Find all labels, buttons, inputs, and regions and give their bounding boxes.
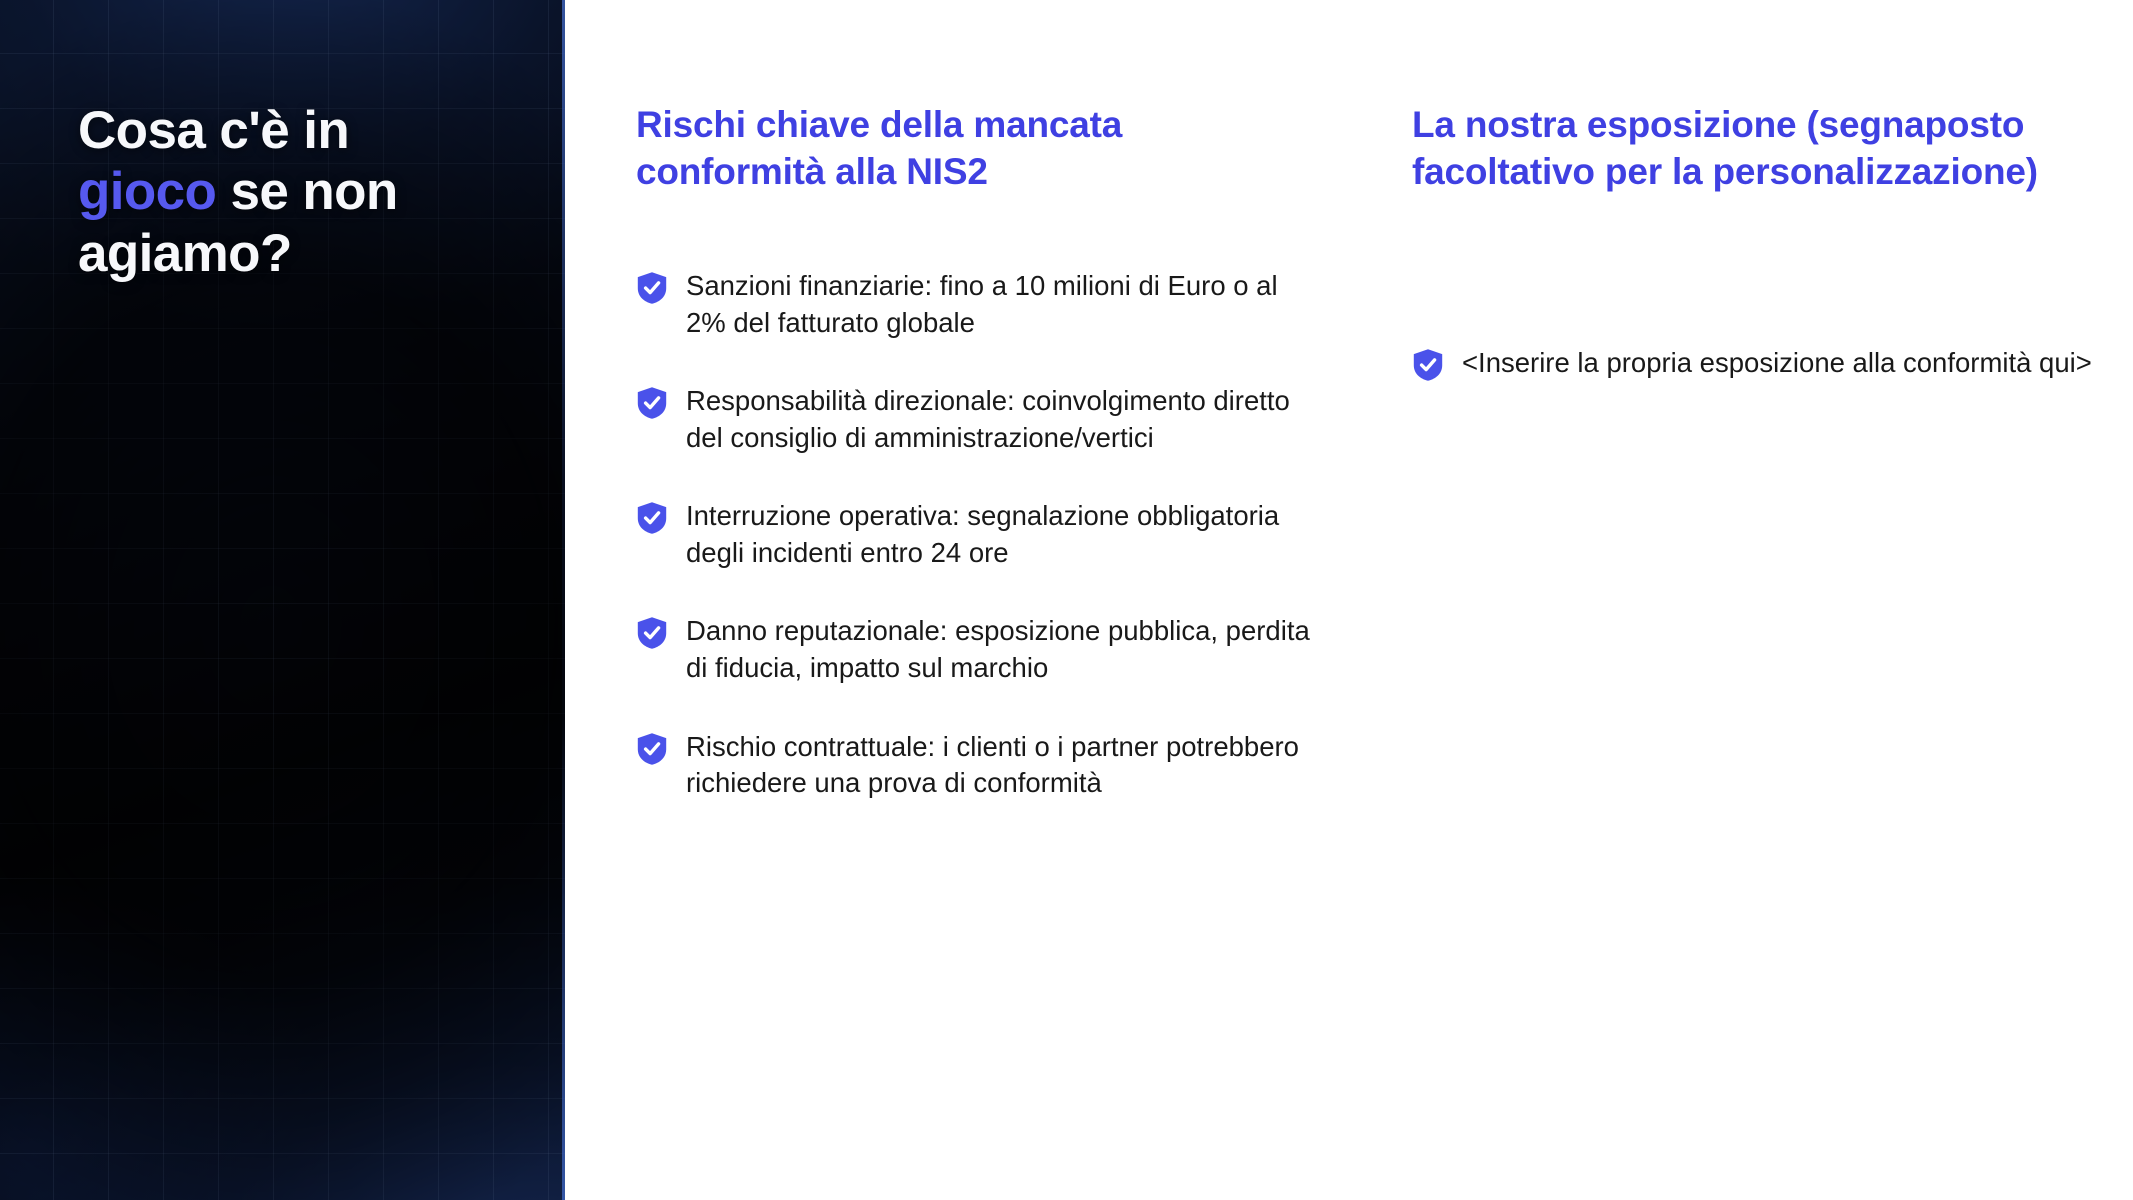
column-risks-heading: Rischi chiave della mancata conformità a… (636, 102, 1316, 195)
list-item: Responsabilità direzionale: coinvolgimen… (636, 383, 1316, 456)
page-title-accent-word: gioco (78, 162, 216, 221)
column-risks: Rischi chiave della mancata conformità a… (636, 0, 1316, 1200)
list-item: Rischio contrattuale: i clienti o i part… (636, 729, 1316, 802)
list-item: Interruzione operativa: segnalazione obb… (636, 498, 1316, 571)
list-item: Sanzioni finanziarie: fino a 10 milioni … (636, 268, 1316, 341)
page-title: Cosa c'è in gioco se non agiamo? (78, 100, 498, 284)
list-item-text: <Inserire la propria esposizione alla co… (1462, 345, 2092, 382)
page-title-line-1: Cosa c'è in (78, 101, 349, 160)
column-exposure-heading: La nostra esposizione (segnaposto facolt… (1412, 102, 2092, 195)
page-title-line-2: se non (216, 162, 397, 221)
list-item: Danno reputazionale: esposizione pubblic… (636, 613, 1316, 686)
list-item-text: Sanzioni finanziarie: fino a 10 milioni … (686, 268, 1316, 341)
page-title-line-3: agiamo? (78, 224, 292, 283)
shield-check-icon (636, 732, 668, 766)
list-item-text: Interruzione operativa: segnalazione obb… (686, 498, 1316, 571)
shield-check-icon (1412, 348, 1444, 382)
list-item-text: Danno reputazionale: esposizione pubblic… (686, 613, 1316, 686)
panel-edge-highlight (562, 0, 565, 1200)
list-item: <Inserire la propria esposizione alla co… (1412, 345, 2092, 382)
shield-check-icon (636, 271, 668, 305)
shield-check-icon (636, 386, 668, 420)
risks-bullet-list: Sanzioni finanziarie: fino a 10 milioni … (636, 268, 1316, 844)
shield-check-icon (636, 616, 668, 650)
list-item-text: Rischio contrattuale: i clienti o i part… (686, 729, 1316, 802)
shield-check-icon (636, 501, 668, 535)
list-item-text: Responsabilità direzionale: coinvolgimen… (686, 383, 1316, 456)
slide-root: Cosa c'è in gioco se non agiamo? Rischi … (0, 0, 2133, 1200)
exposure-bullet-list: <Inserire la propria esposizione alla co… (1412, 345, 2092, 416)
column-exposure: La nostra esposizione (segnaposto facolt… (1412, 0, 2092, 1200)
